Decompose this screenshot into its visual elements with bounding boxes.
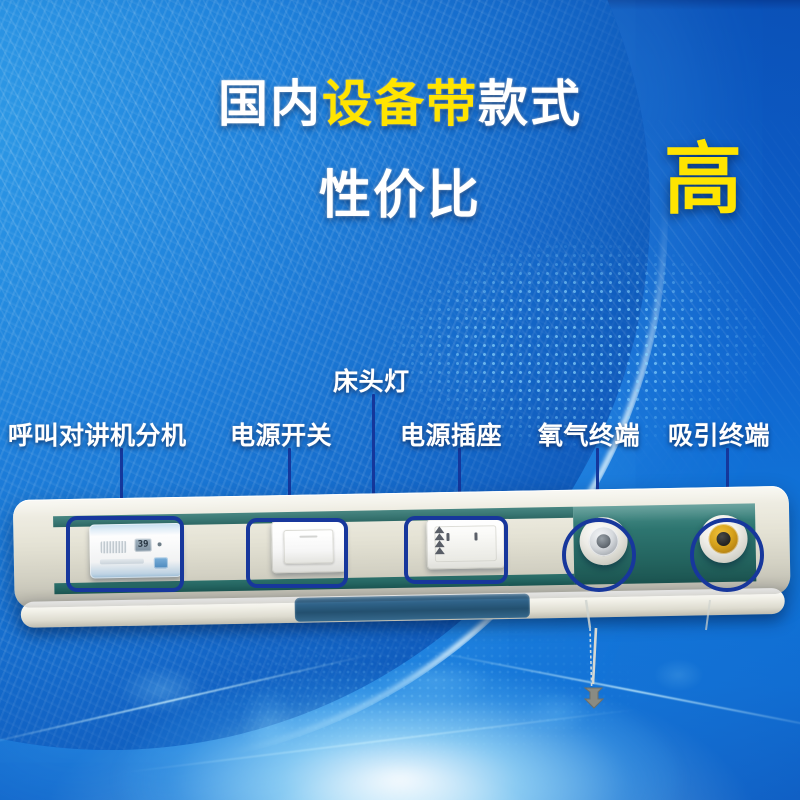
- pull-switch-handle-icon[interactable]: [0, 0, 800, 800]
- highlight-box-power-socket: [404, 516, 508, 584]
- product-banner: 国内设备带款式 性价比 高 呼叫对讲机分机 电源开关 床头灯 电源插座 氧气终端…: [0, 0, 800, 800]
- highlight-box-intercom: [66, 516, 184, 592]
- highlight-box-power-switch: [246, 518, 348, 588]
- highlight-circle-oxygen-outlet: [562, 518, 636, 592]
- highlight-circle-suction-outlet: [690, 518, 764, 592]
